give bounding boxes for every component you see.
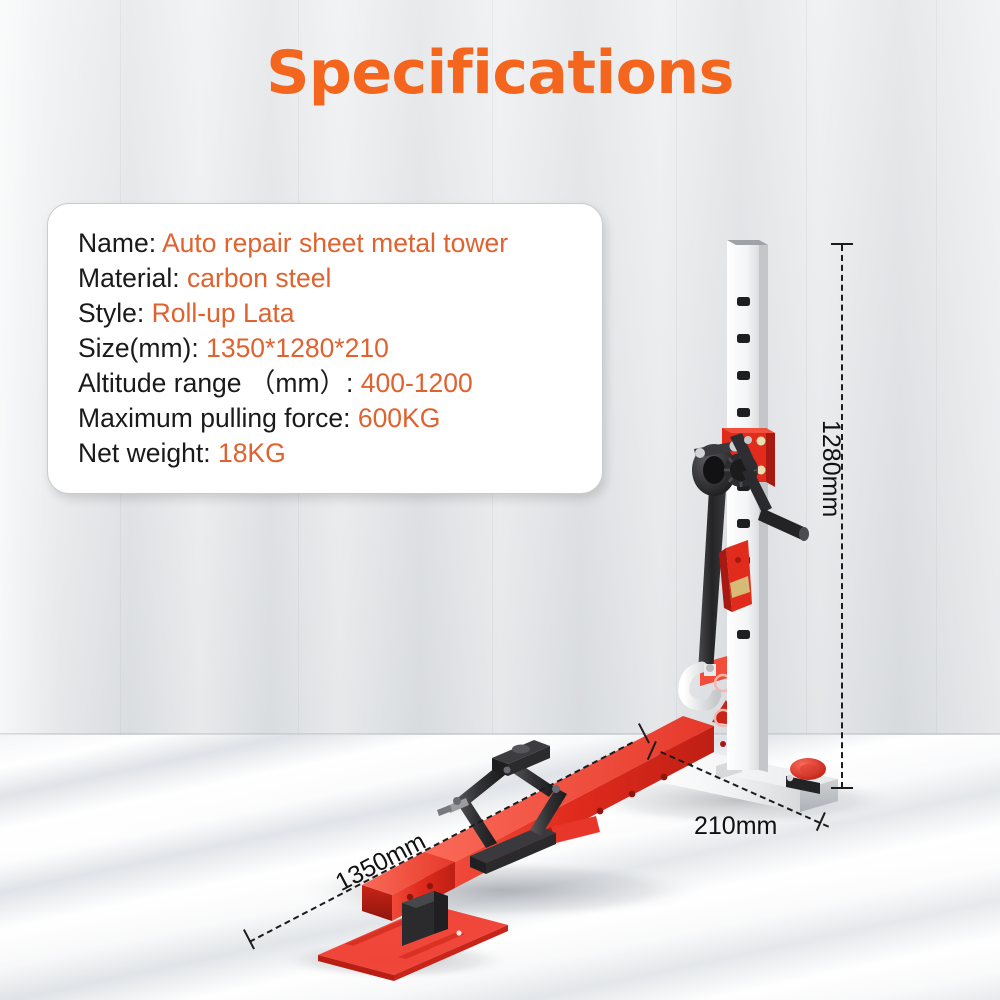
product-spec-image: Specifications — [0, 0, 1000, 1000]
spec-label: Style: — [78, 298, 144, 328]
spec-label: Maximum pulling force: — [78, 403, 350, 433]
dimension-label-height: 1280mm — [816, 420, 845, 517]
spec-row: Net weight: 18KG — [78, 436, 602, 471]
lifting-hook — [684, 664, 716, 706]
spec-label: Size(mm): — [78, 333, 199, 363]
spec-label: Altitude range （mm）: — [78, 368, 353, 398]
spec-row: Style: Roll-up Lata — [78, 296, 602, 331]
specifications-card: Name: Auto repair sheet metal towerMater… — [47, 203, 603, 494]
spec-value: 1350*1280*210 — [206, 333, 389, 363]
spec-value: Roll-up Lata — [152, 298, 295, 328]
product-illustration — [0, 0, 1000, 1000]
dimension-cap-height-bottom — [831, 787, 853, 789]
spec-value: 600KG — [358, 403, 441, 433]
spec-row: Material: carbon steel — [78, 261, 602, 296]
spec-row: Name: Auto repair sheet metal tower — [78, 226, 602, 261]
spec-value: 400-1200 — [361, 368, 473, 398]
spec-row: Maximum pulling force: 600KG — [78, 401, 602, 436]
spec-row: Altitude range （mm）: 400-1200 — [78, 366, 602, 401]
dimension-cap-height-top — [831, 243, 853, 245]
red-lever-plate — [719, 540, 752, 612]
spec-label: Name: — [78, 228, 156, 258]
spec-value: Auto repair sheet metal tower — [162, 228, 508, 258]
dimension-label-base-width: 210mm — [694, 812, 777, 841]
spec-value: carbon steel — [187, 263, 331, 293]
spec-label: Material: — [78, 263, 180, 293]
spec-label: Net weight: — [78, 438, 211, 468]
spec-row: Size(mm): 1350*1280*210 — [78, 331, 602, 366]
spec-value: 18KG — [218, 438, 286, 468]
